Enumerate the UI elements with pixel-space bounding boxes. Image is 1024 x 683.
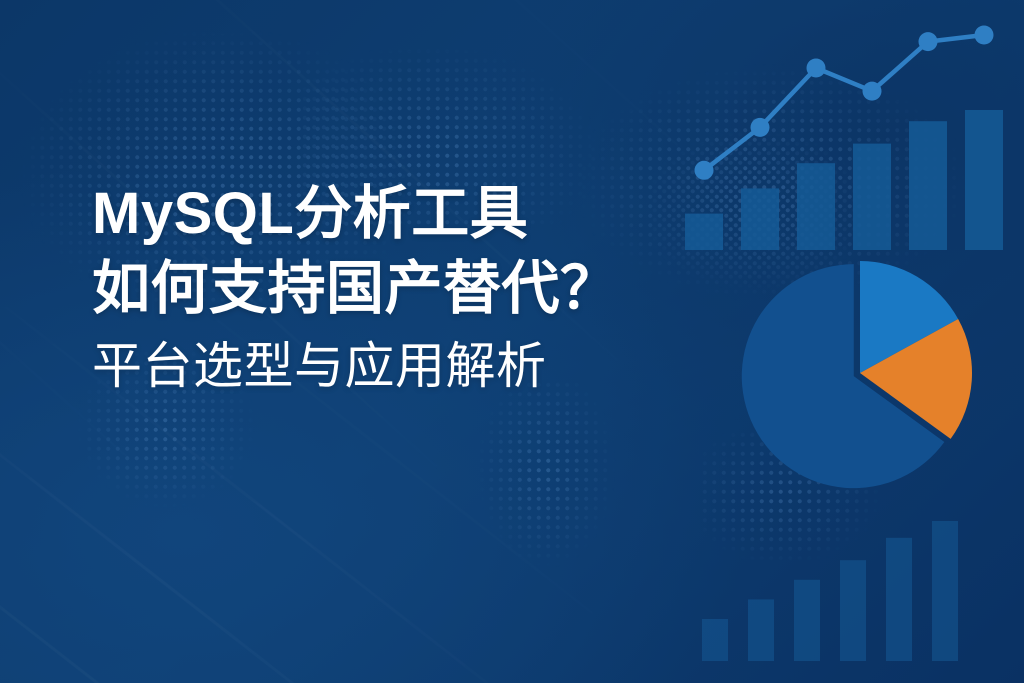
bar <box>965 110 1003 250</box>
pie-chart <box>735 248 985 498</box>
trend-line-markers <box>695 26 994 180</box>
data-point-marker <box>807 59 826 78</box>
data-point-marker <box>975 26 994 45</box>
bar <box>702 619 728 661</box>
bar <box>853 144 891 250</box>
bar <box>794 580 820 661</box>
bar <box>840 560 866 661</box>
data-point-marker <box>751 118 770 137</box>
bottom-right-growth-chart <box>664 483 1024 683</box>
pie-slice-group <box>742 261 972 488</box>
dot-grid-pattern <box>420 380 700 630</box>
data-point-marker <box>919 32 938 51</box>
headline-line-1: MySQL分析工具 <box>92 176 772 251</box>
bar <box>748 599 774 661</box>
headline-line-2: 如何支持国产替代？ <box>92 251 772 326</box>
data-point-marker <box>863 82 882 101</box>
bar-series <box>702 521 958 661</box>
bar <box>932 521 958 661</box>
headline-line-3: 平台选型与应用解析 <box>92 331 772 402</box>
bar <box>797 163 835 250</box>
poster-canvas: MySQL分析工具 如何支持国产替代？ 平台选型与应用解析 <box>0 0 1024 683</box>
headline-block: MySQL分析工具 如何支持国产替代？ 平台选型与应用解析 <box>92 176 772 402</box>
bar <box>886 538 912 661</box>
bar <box>909 121 947 250</box>
